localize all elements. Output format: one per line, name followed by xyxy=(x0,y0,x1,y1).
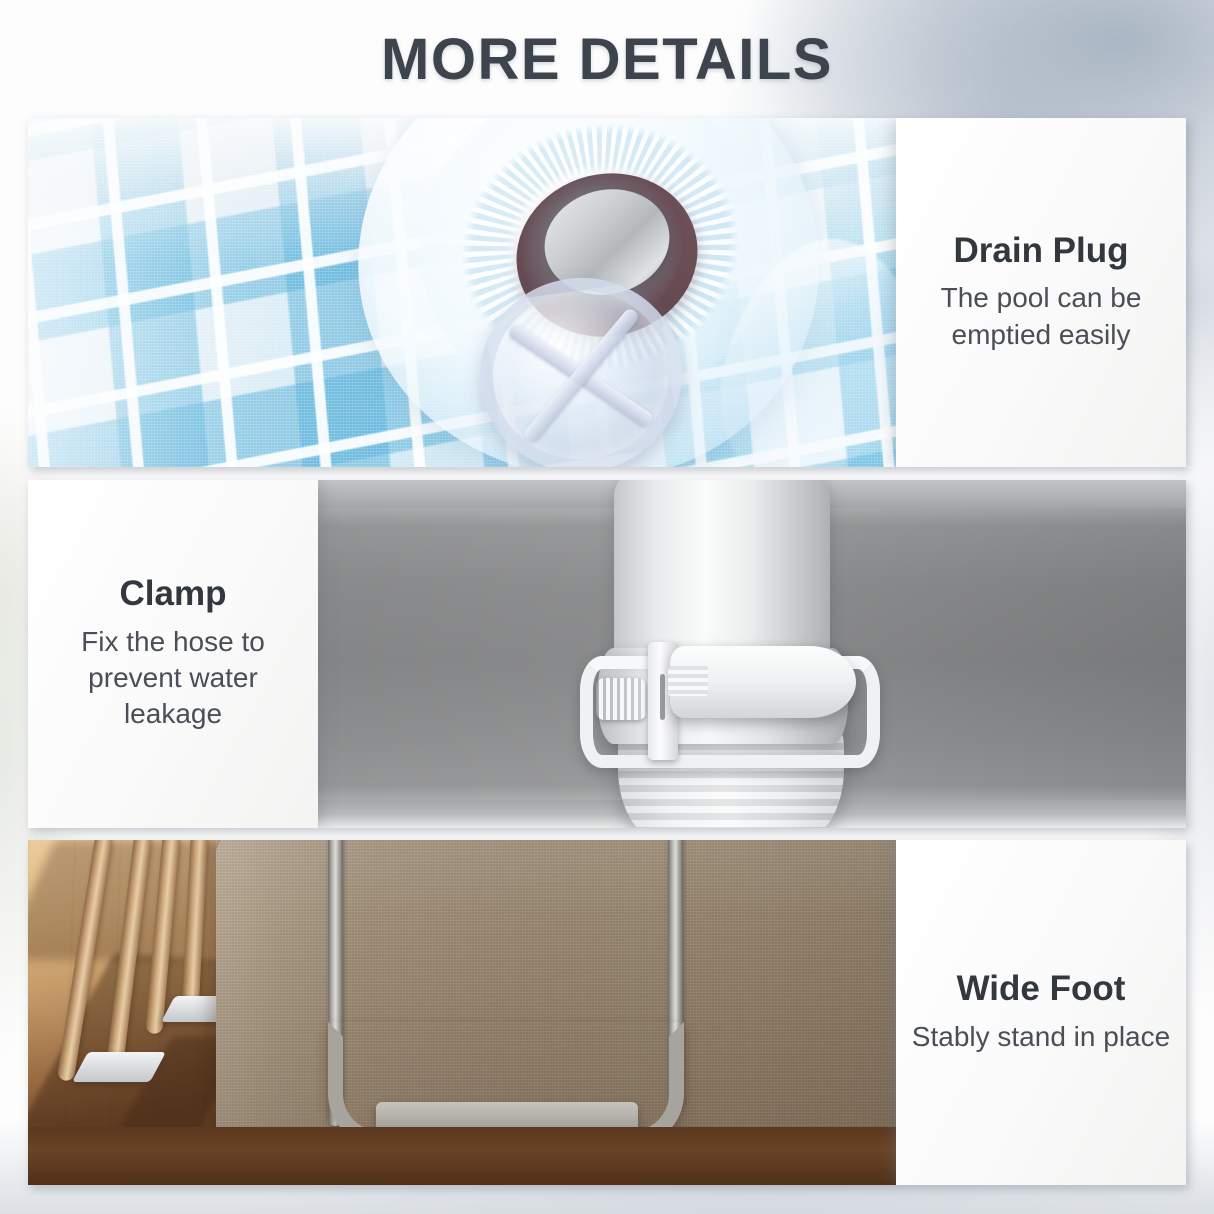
panel-title-drain-plug: Drain Plug xyxy=(953,232,1128,271)
clamp-lever-grip-ridges xyxy=(668,666,708,696)
photo-wide-foot xyxy=(28,840,896,1185)
text-card-drain-plug: Drain Plug The pool can be emptied easil… xyxy=(896,118,1186,467)
photo-drain-plug xyxy=(28,118,896,467)
panel-description-wide-foot: Stably stand in place xyxy=(912,1019,1170,1055)
text-card-wide-foot: Wide Foot Stably stand in place xyxy=(896,840,1186,1185)
page-title: MORE DETAILS xyxy=(381,26,833,93)
feature-panel-clamp: Clamp Fix the hose to prevent water leak… xyxy=(28,480,1186,828)
infographic-page: MORE DETAILS Drain Plug The pool can be … xyxy=(0,0,1214,1214)
panel-description-clamp: Fix the hose to prevent water leakage xyxy=(42,624,304,733)
clamp-screw-housing xyxy=(596,678,646,720)
feature-panel-drain-plug: Drain Plug The pool can be emptied easil… xyxy=(28,118,1186,467)
header: MORE DETAILS xyxy=(0,0,1214,118)
panel-title-clamp: Clamp xyxy=(120,575,227,614)
feature-panel-wide-foot: Wide Foot Stably stand in place xyxy=(28,840,1186,1185)
ladder-foot-pad-1 xyxy=(72,1052,166,1082)
deck-foreground-plank xyxy=(28,1127,896,1185)
panel-description-drain-plug: The pool can be emptied easily xyxy=(910,280,1172,353)
photo-clamp xyxy=(318,480,1186,828)
text-card-clamp: Clamp Fix the hose to prevent water leak… xyxy=(28,480,318,828)
panel-title-wide-foot: Wide Foot xyxy=(957,970,1126,1009)
